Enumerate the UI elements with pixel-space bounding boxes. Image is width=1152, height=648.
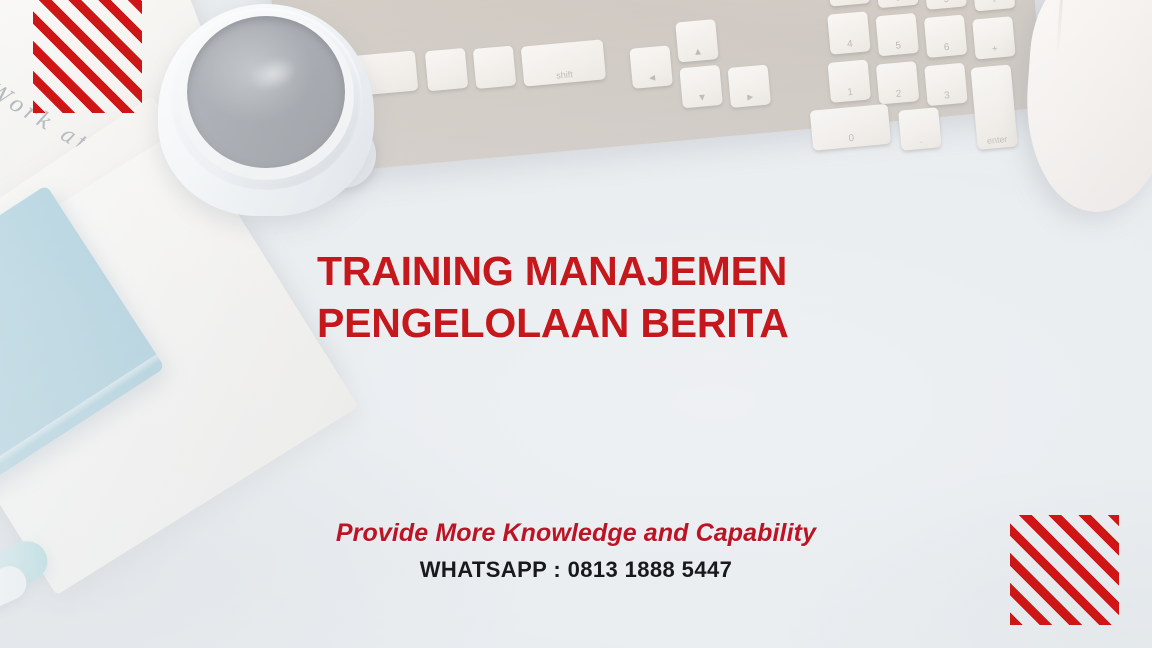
- key-3: 3: [924, 63, 967, 106]
- key-plus: +: [972, 16, 1015, 59]
- key-blank-3: [473, 46, 516, 89]
- key-5: 5: [875, 13, 918, 56]
- key-0: 0: [810, 104, 891, 151]
- whatsapp-contact-text: WHATSAPP : 0813 1888 5447: [0, 557, 1152, 583]
- key-enter: enter: [971, 64, 1018, 149]
- key-minus: -: [972, 0, 1015, 11]
- key-arrow-right: ►: [728, 64, 771, 107]
- diagonal-stripes-icon-top-left: [33, 0, 142, 113]
- key-4: 4: [827, 11, 870, 54]
- key-7: 7: [827, 0, 870, 7]
- key-shift: shift: [521, 39, 606, 86]
- key-period: .: [898, 107, 941, 150]
- tagline-text: Provide More Knowledge and Capability: [0, 518, 1152, 548]
- key-arrow-down: ▼: [679, 65, 722, 108]
- page-title-line-2: PENGELOLAAN BERITA: [317, 297, 957, 349]
- key-arrow-left: ◄: [629, 45, 672, 88]
- key-8: 8: [875, 0, 918, 8]
- key-2: 2: [876, 61, 919, 104]
- key-9: 9: [923, 0, 966, 10]
- key-blank-2: [425, 48, 468, 91]
- key-6: 6: [924, 14, 967, 57]
- page-title: TRAINING MANAJEMEN PENGELOLAAN BERITA: [317, 245, 957, 350]
- key-arrow-up: ▲: [675, 19, 718, 62]
- footer-block: Provide More Knowledge and Capability WH…: [0, 518, 1152, 583]
- key-1: 1: [828, 59, 871, 102]
- training-banner: shift ◄ ▲ ▼ ► 7 8 9 - 4 5 6 + 1 2 3 0 . …: [0, 0, 1152, 648]
- page-title-line-1: TRAINING MANAJEMEN: [317, 245, 957, 297]
